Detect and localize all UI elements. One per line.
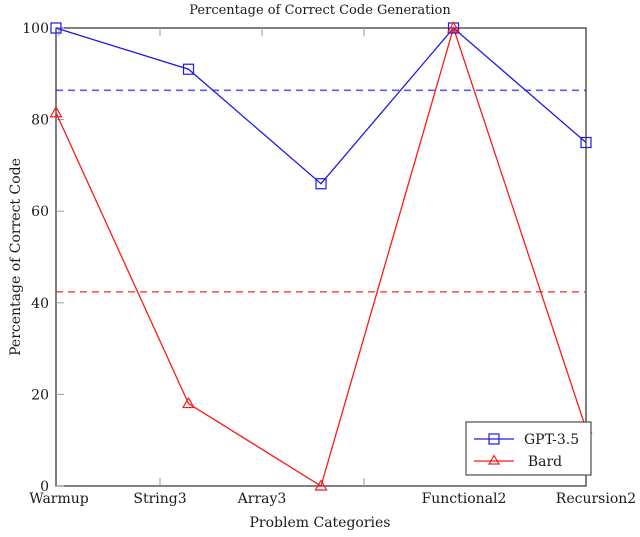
series-line-gpt35 xyxy=(56,28,586,184)
x-tick-label-functional2: Functional2 xyxy=(422,491,507,507)
series-markers-gpt35 xyxy=(51,23,591,189)
legend-label-bard: Bard xyxy=(528,454,562,470)
legend[interactable]: GPT-3.5 Bard xyxy=(466,422,591,475)
chart-title: Percentage of Correct Code Generation xyxy=(189,3,451,18)
x-tick-label-warmup: Warmup xyxy=(29,491,89,507)
x-tick-label-array3: Array3 xyxy=(237,491,287,507)
plot-frame xyxy=(56,28,586,486)
average-lines xyxy=(56,90,586,292)
y-tick-label-40: 40 xyxy=(31,296,49,312)
series-line-bard xyxy=(56,28,586,486)
y-tick-label-100: 100 xyxy=(22,21,49,37)
y-axis-label: Percentage of Correct Code xyxy=(8,158,24,356)
series-markers-bard xyxy=(51,23,592,491)
y-tick-label-80: 80 xyxy=(31,113,49,129)
y-tick-label-20: 20 xyxy=(31,387,49,403)
x-tick-label-recursion2: Recursion2 xyxy=(556,491,636,507)
y-tick-label-60: 60 xyxy=(31,204,49,220)
x-tick-label-string3: String3 xyxy=(133,491,186,507)
x-axis-label: Problem Categories xyxy=(250,515,391,531)
legend-label-gpt35: GPT-3.5 xyxy=(524,432,579,448)
line-chart: Percentage of Correct Code Generation 0 … xyxy=(0,0,640,537)
chart-container: Percentage of Correct Code Generation 0 … xyxy=(0,0,640,537)
y-tickmarks xyxy=(56,28,64,486)
